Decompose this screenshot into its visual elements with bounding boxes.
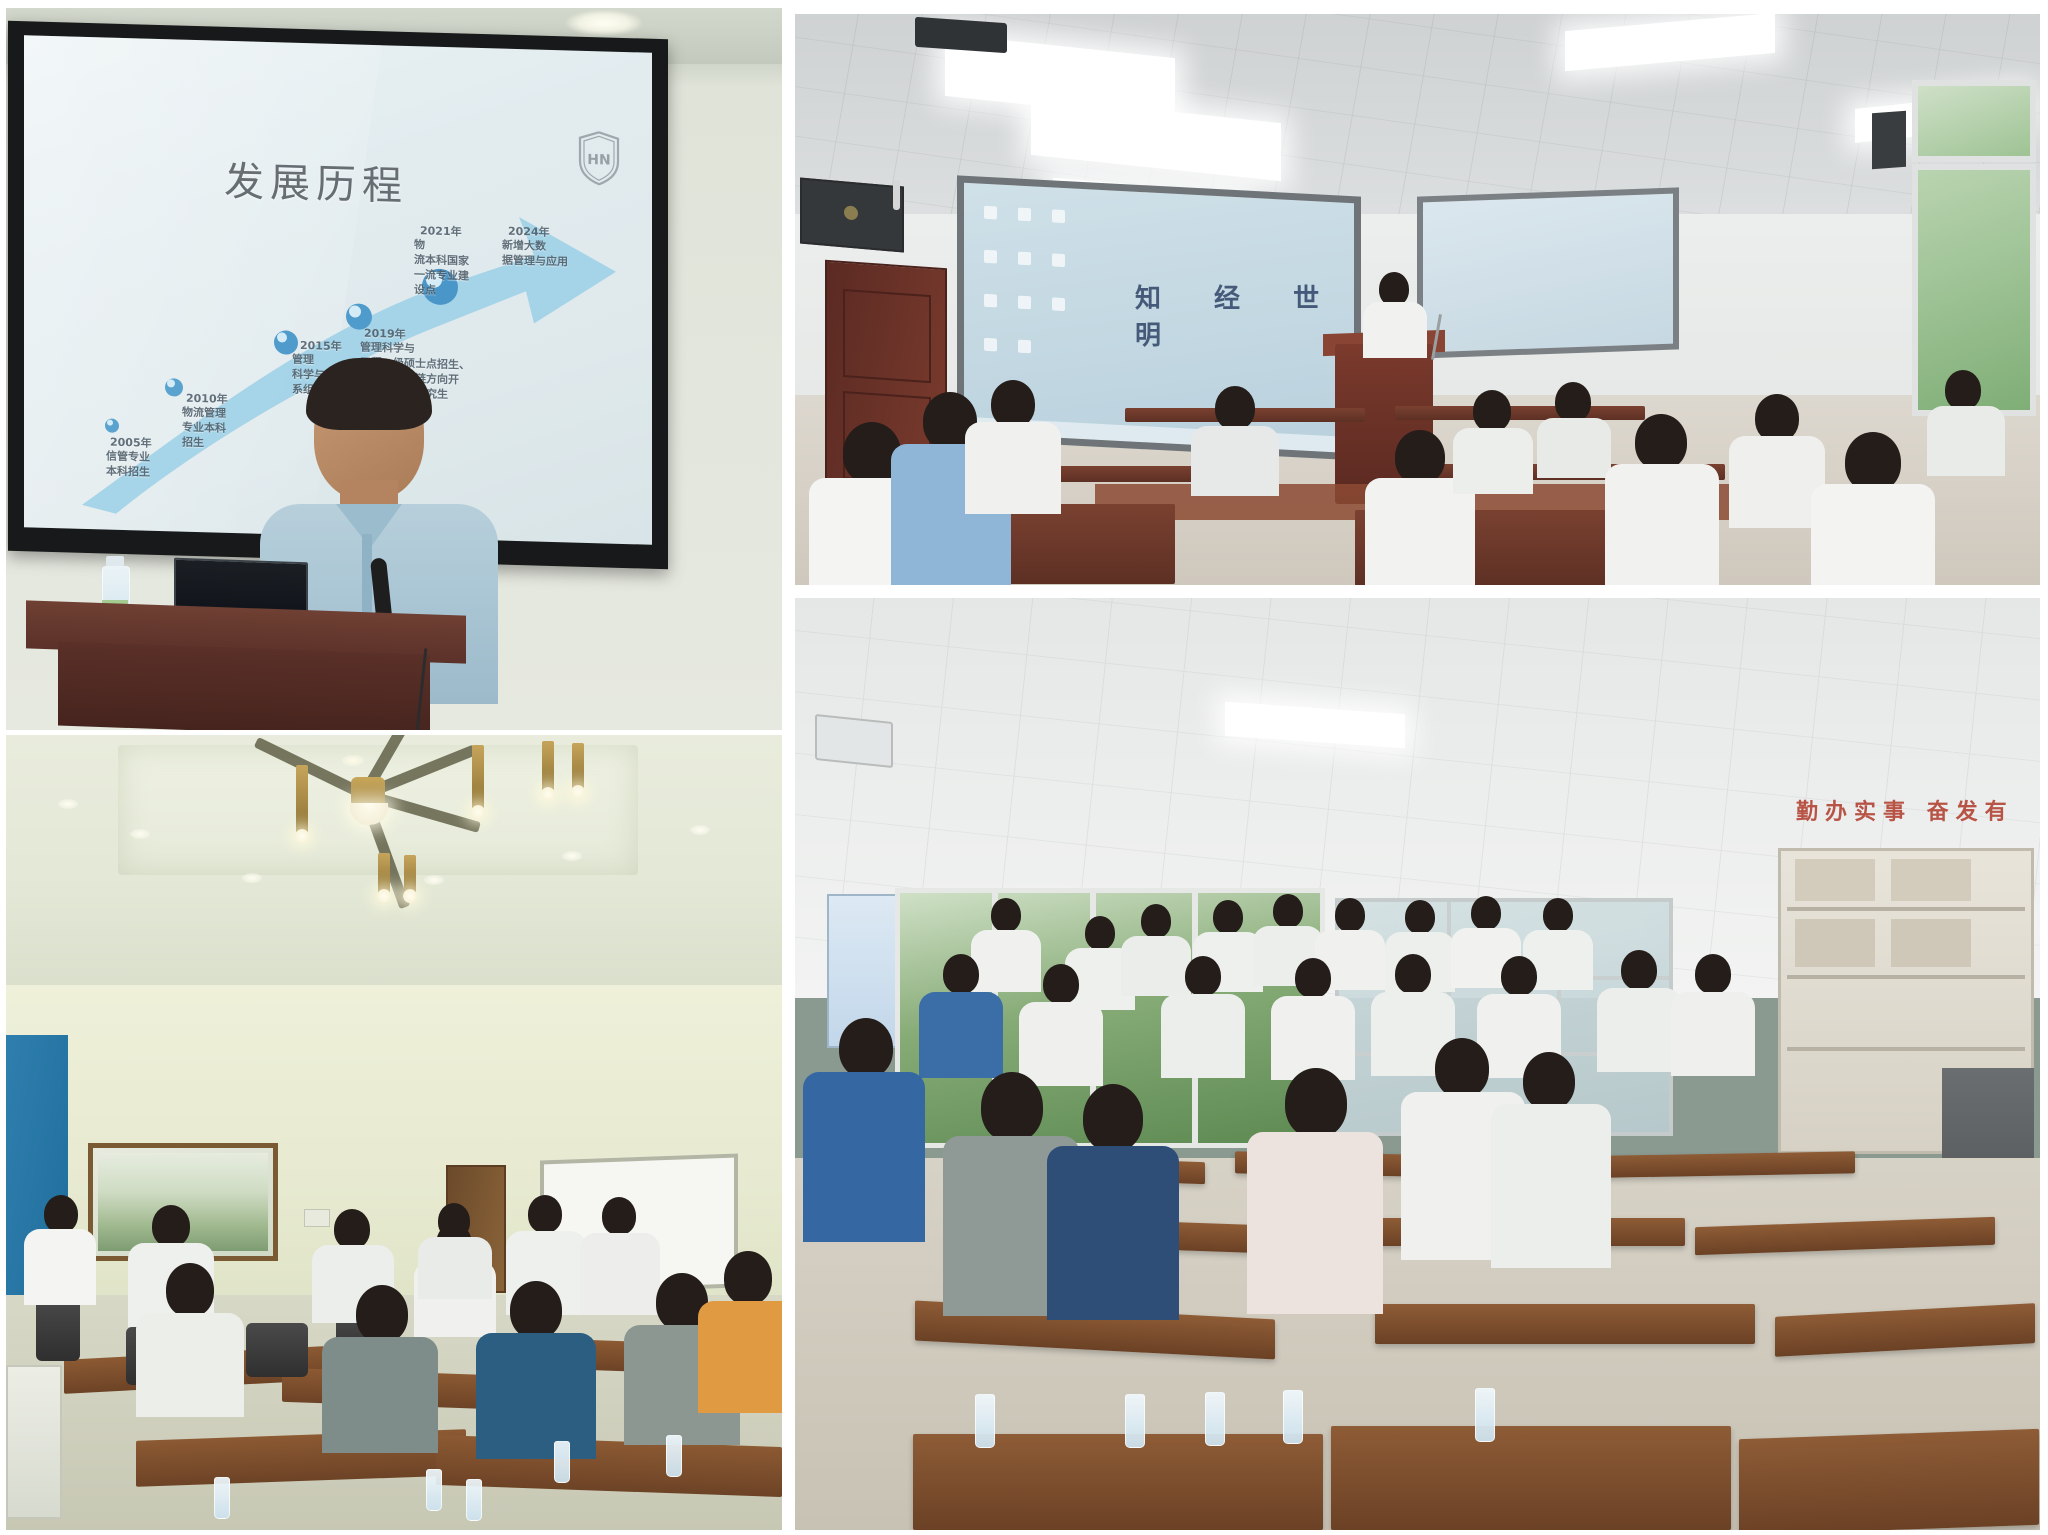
water-bottle: [426, 1469, 442, 1511]
podium-presenter: [1361, 272, 1431, 354]
water-bottle: [466, 1479, 482, 1521]
photo-bottom-left-seminar-room: [6, 735, 782, 1530]
front-desk: [1331, 1426, 1731, 1530]
downlight: [562, 851, 582, 861]
pendant-bulb: [471, 805, 485, 819]
desktop-icons: [978, 198, 1098, 394]
milestone-label-2024-text: 新增大数 据管理与应用: [502, 239, 622, 272]
downlight: [690, 825, 710, 835]
door-handle: [893, 180, 900, 210]
water-bottle: [1283, 1390, 1303, 1444]
pendant-bulb: [541, 787, 555, 801]
pendant-rod: [572, 743, 584, 789]
milestone-label-2010-text: 物流管理 专业本科 招生: [182, 406, 226, 452]
svg-text:HN: HN: [587, 152, 610, 169]
downlight: [424, 875, 444, 885]
water-bottle: [1205, 1392, 1225, 1446]
pendant-rod: [542, 741, 554, 791]
pendant-bulb: [295, 829, 309, 843]
downlight: [58, 799, 78, 809]
pendant-rod: [472, 745, 484, 809]
downlight: [130, 829, 150, 839]
pendant-rod: [296, 765, 308, 833]
air-conditioner: [6, 1365, 62, 1519]
university-logo-icon: HN: [578, 131, 620, 186]
wall-speaker: [800, 177, 904, 252]
desk-row: [1395, 406, 1645, 420]
projection-screen-secondary: [1417, 187, 1679, 358]
chair: [246, 1323, 308, 1377]
milestone-label-2021-text: 物 流本科国家 一流专业建 设点: [414, 238, 469, 299]
pendant-rod: [378, 853, 390, 893]
wall-banner: 勤办实事 奋发有: [1796, 794, 2026, 840]
water-bottle: [666, 1435, 682, 1477]
milestone-label-2005-text: 信管专业 本科招生: [106, 450, 150, 481]
desk-row: [1375, 1304, 1755, 1344]
downlight: [242, 873, 262, 883]
presenter-hair: [306, 358, 432, 430]
wall-plaque: [304, 1209, 330, 1227]
downlight: [342, 755, 364, 766]
front-desk: [913, 1434, 1323, 1530]
water-bottle: [214, 1477, 230, 1519]
pendant-rod: [404, 855, 416, 893]
water-bottle: [1125, 1394, 1145, 1448]
water-bottle: [975, 1394, 995, 1448]
water-bottle: [1475, 1388, 1495, 1442]
pendant-bulb: [403, 889, 417, 903]
lectern-body: [58, 642, 430, 730]
pendant-bulb: [377, 889, 391, 903]
photo-bottom-right-classroom: 勤办实事 奋发有: [795, 598, 2040, 1530]
water-bottle: [554, 1441, 570, 1483]
photo-top-right-lecture-hall: 知 经 世 明: [795, 14, 2040, 585]
photo-collage: 发展历程 HN: [0, 0, 2048, 1535]
wall-calligraphy: 知 经 世 明: [1135, 278, 1385, 322]
wall-speaker-right: [1872, 111, 1906, 169]
ceiling-downlight: [566, 10, 642, 36]
projector-icon: [915, 17, 1007, 53]
window-upper: [1912, 80, 2036, 162]
projector-icon: [815, 714, 893, 768]
front-desk: [1739, 1429, 2039, 1530]
photo-top-left-speaker: 发展历程 HN: [6, 8, 782, 730]
pendant-bulb: [571, 785, 585, 799]
